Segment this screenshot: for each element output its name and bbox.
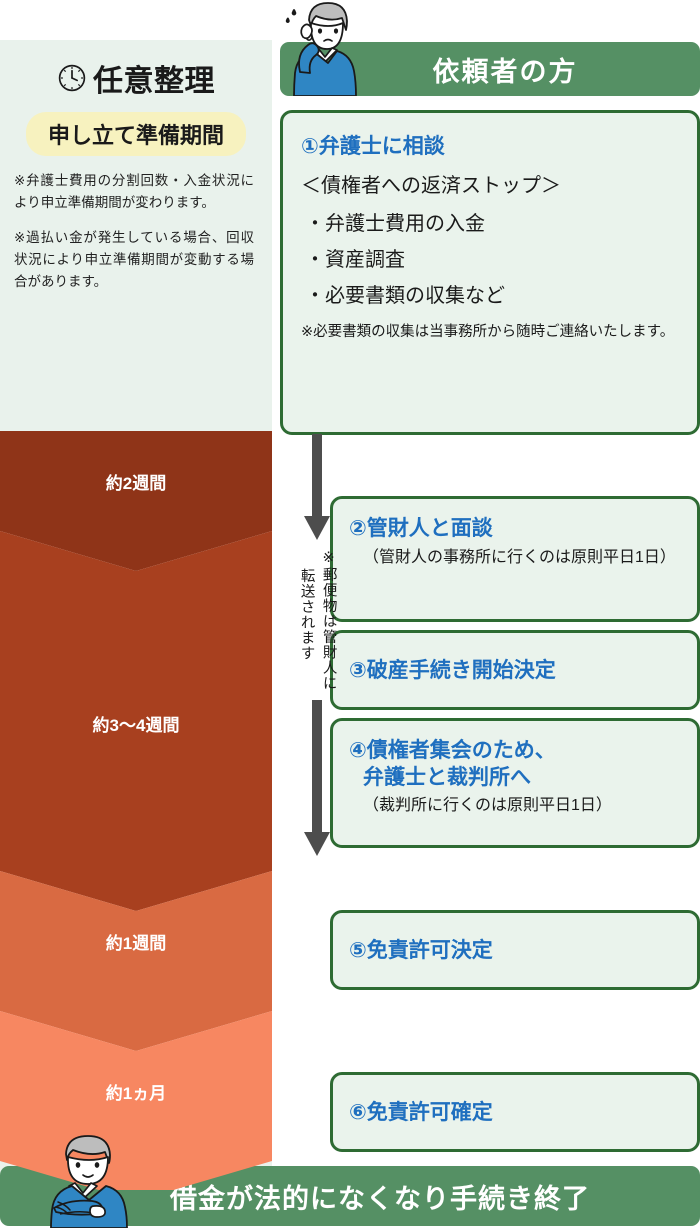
step-2-title: ②管財人と面談: [349, 515, 683, 542]
left-title-row: 任意整理: [0, 40, 272, 100]
step-4-title-line-1: ④債権者集会のため、: [349, 737, 683, 764]
step-2-paren: （管財人の事務所に行くのは原則平日1日）: [349, 546, 683, 569]
timeline-band-4: 約1ヵ月: [0, 1011, 272, 1190]
step-6-box[interactable]: ⑥免責許可確定: [330, 1072, 700, 1152]
left-note-2: ※過払い金が発生している場合、回収状況により申立準備期間が変動する場合があります…: [14, 227, 254, 294]
badge-wrapper: 申し立て準備期間: [0, 112, 272, 156]
down-arrow-2: [302, 700, 332, 865]
process-right-column: 依頼者の方 ①弁護士に相談 ＜債権者への返済ストップ＞ ・弁護士費用の入金 ・資…: [280, 0, 700, 1230]
timeline-band-1-label: 約2週間: [106, 469, 166, 494]
timeline-band-3-label: 約1週間: [106, 929, 166, 954]
step-1-bullet-1: ・弁護士費用の入金: [301, 209, 679, 239]
timeline-band-2: 約3〜4週間: [0, 531, 272, 911]
left-panel-title: 任意整理: [93, 56, 215, 100]
person-arms-crossed-illustration: [42, 1132, 134, 1228]
left-notes: ※弁護士費用の分割回数・入金状況により申立準備期間が変わります。 ※過払い金が発…: [0, 156, 272, 293]
step-1-box[interactable]: ①弁護士に相談 ＜債権者への返済ストップ＞ ・弁護士費用の入金 ・資産調査 ・必…: [280, 110, 700, 435]
infographic-root: 任意整理 申し立て準備期間 ※弁護士費用の分割回数・入金状況により申立準備期間が…: [0, 0, 700, 1230]
step-5-title: ⑤免責許可決定: [349, 937, 683, 964]
step-1-bullet-2: ・資産調査: [301, 245, 679, 275]
side-note-column-2: 転送されます: [296, 568, 316, 678]
step-1-bullet-3: ・必要書類の収集など: [301, 281, 679, 311]
left-note-1: ※弁護士費用の分割回数・入金状況により申立準備期間が変わります。: [14, 170, 254, 215]
step-1-note: ※必要書類の収集は当事務所から随時ご連絡いたします。: [301, 321, 679, 344]
client-header-label: 依頼者の方: [403, 50, 578, 89]
step-1-subtitle: ＜債権者への返済ストップ＞: [301, 172, 679, 201]
step-3-box[interactable]: ③破産手続き開始決定: [330, 630, 700, 710]
timeline-bands: 約2週間 約3〜4週間 約1週間 約1ヵ月: [0, 431, 272, 1190]
step-6-title: ⑥免責許可確定: [349, 1099, 683, 1126]
preparation-period-badge: 申し立て準備期間: [26, 112, 246, 156]
timeline-band-2-label: 約3〜4週間: [93, 711, 180, 736]
step-2-box[interactable]: ②管財人と面談 （管財人の事務所に行くのは原則平日1日）: [330, 496, 700, 622]
step-4-box[interactable]: ④債権者集会のため、 弁護士と裁判所へ （裁判所に行くのは原則平日1日）: [330, 718, 700, 848]
side-note-column-1: ※郵便物は管財人に: [318, 550, 338, 700]
step-3-title: ③破産手続き開始決定: [349, 657, 683, 684]
left-header-panel: 任意整理 申し立て準備期間 ※弁護士費用の分割回数・入金状況により申立準備期間が…: [0, 40, 272, 431]
step-1-title: ①弁護士に相談: [301, 133, 679, 160]
clock-icon: [57, 63, 87, 93]
step-4-title-line-2: 弁護士と裁判所へ: [349, 764, 683, 791]
step-5-box[interactable]: ⑤免責許可決定: [330, 910, 700, 990]
step-4-paren: （裁判所に行くのは原則平日1日）: [349, 794, 683, 817]
person-phone-illustration: [282, 0, 368, 96]
timeline-band-4-label: 約1ヵ月: [106, 1079, 166, 1104]
down-arrow-1: [302, 434, 332, 549]
timeline-left-column: 任意整理 申し立て準備期間 ※弁護士費用の分割回数・入金状況により申立準備期間が…: [0, 40, 272, 1190]
